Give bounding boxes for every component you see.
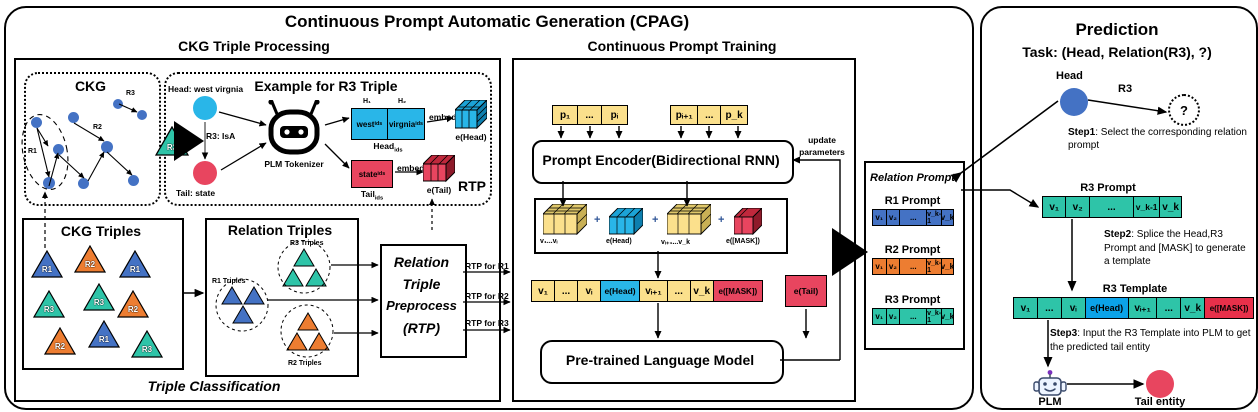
triple-triangle: R3 <box>33 290 65 318</box>
prediction-step2: Step2: Splice the Head,R3 Prompt and [MA… <box>1104 228 1254 269</box>
ckg-triples-title: CKG Triples <box>22 223 180 239</box>
cell: v₁ <box>873 309 887 324</box>
step2-bold: Step2 <box>1104 229 1131 240</box>
triangle-label: R2 <box>44 342 76 351</box>
p-token: pᵢ₊₁ <box>671 106 698 124</box>
head-ids-caption: Headids <box>351 141 425 154</box>
input-sequence-row: v₁ ... vᵢ e(Head) vᵢ₊₁ ... v_k e([MASK]) <box>531 280 763 302</box>
r3-prompt-row: v₁ v₂ ... v_k-1 v_k <box>872 308 954 325</box>
cell: vᵢ₊₁ <box>1129 298 1158 318</box>
plm-robot-label: PLM <box>1025 396 1075 408</box>
r1-group-label: R1 Triples <box>212 278 245 285</box>
cell: e([MASK]) <box>1205 298 1253 318</box>
v1-vi-slab <box>543 204 587 236</box>
rtp-line-1: Relation <box>380 254 463 270</box>
plm-tokenizer-icon <box>265 100 323 156</box>
rtp-out-r2: RTP for R2 <box>465 291 509 301</box>
cluster-triangle <box>297 312 319 331</box>
prompt-encoder-label: Prompt Encoder(Bidirectional RNN) <box>532 152 790 168</box>
rtp-label: RTP <box>458 178 486 194</box>
p-token: ... <box>698 106 721 124</box>
cell: ... <box>1157 298 1181 318</box>
e-head-slab <box>609 208 643 236</box>
head-h1-label: H₁ <box>363 98 371 105</box>
section-ckg-title: CKG Triple Processing <box>14 38 494 54</box>
r3-template-title: R3 Template <box>1020 283 1250 295</box>
p-token: ... <box>578 106 602 124</box>
cluster-triangle <box>243 286 265 305</box>
cell: ... <box>1090 197 1134 217</box>
cell: v₂ <box>887 259 901 274</box>
update-parameters-line2: parameters <box>794 147 850 157</box>
cell: v_k <box>942 309 953 324</box>
ckg-node <box>101 141 113 153</box>
step3-text: : Input the R3 Template into PLM to get … <box>1050 328 1251 353</box>
prediction-relation-label: R3 <box>1118 83 1132 95</box>
figure-root: Continuous Prompt Automatic Generation (… <box>0 0 1258 412</box>
e-head-cube <box>455 100 487 130</box>
r3-group-label: R3 Triples <box>290 240 323 247</box>
triangle-label: R1 <box>119 265 151 274</box>
prompt-tokens-group-b: pᵢ₊₁ ... p_k <box>670 105 748 125</box>
rtp-line-2: Triple <box>380 276 463 292</box>
cell: v_k-1 <box>1134 197 1160 217</box>
cell: v₂ <box>887 210 901 225</box>
e-mask-slab <box>734 208 762 236</box>
cell: v_k <box>1181 298 1205 318</box>
head-token-2: virgniaids <box>388 109 424 139</box>
ckg-node <box>31 117 42 128</box>
section-training-title: Continuous Prompt Training <box>512 38 852 54</box>
cell: vᵢ <box>1062 298 1086 318</box>
triple-triangle: R2 <box>44 327 76 355</box>
relation-triples-title: Relation Triples <box>205 222 355 238</box>
r1-prompt-row: v₁ v₂ ... v_k-1 v_k <box>872 209 954 226</box>
sum-label-emask: e([MASK]) <box>726 238 760 245</box>
p-token: p₁ <box>553 106 578 124</box>
ckg-node <box>68 112 79 123</box>
prediction-step1: Step1: Select the corresponding relation… <box>1068 126 1254 152</box>
embed-tail-label: embed <box>397 163 424 173</box>
seq-cell-vk: v_k <box>691 281 714 301</box>
tail-entity-label: Tail entity <box>1120 396 1200 408</box>
seq-cell-vi1: vᵢ₊₁ <box>640 281 668 301</box>
tail-node <box>193 161 217 185</box>
cell: v_k-1 <box>927 309 941 324</box>
ckg-edge-r2: R2 <box>93 124 102 131</box>
prediction-unknown-node: ? <box>1168 94 1200 126</box>
plus-sign: + <box>594 214 600 226</box>
cluster-triangle <box>282 268 304 287</box>
cluster-triangle <box>293 248 315 267</box>
tail-ids-caption: Tailids <box>351 189 393 202</box>
prediction-head-node <box>1060 88 1088 116</box>
prediction-head-label: Head <box>1056 70 1083 82</box>
cluster-triangle <box>286 332 308 351</box>
plus-sign: + <box>652 214 658 226</box>
seq-cell-emask: e([MASK]) <box>714 281 762 301</box>
cluster-triangle <box>232 305 254 324</box>
triple-triangle: R2 <box>74 245 106 273</box>
embed-head-label: embed <box>429 112 456 122</box>
step1-text: : Select the corresponding relation prom… <box>1068 127 1247 151</box>
tail-ids-box: stateids <box>351 160 393 188</box>
cluster-triangle <box>305 268 327 287</box>
cell: v_k <box>942 259 953 274</box>
ckg-edge-r1: R1 <box>28 148 37 155</box>
prediction-step3: Step3: Input the R3 Template into PLM to… <box>1050 327 1255 354</box>
ckg-node <box>78 178 89 189</box>
head-ids-row: westids virgniaids <box>351 108 425 140</box>
step3-bold: Step3 <box>1050 328 1077 339</box>
e-tail-box: e(Tail) <box>785 275 827 307</box>
cell: v₁ <box>873 259 887 274</box>
ckg-node <box>137 110 147 120</box>
cluster-triangle <box>221 286 243 305</box>
triple-triangle: R3 <box>131 330 163 358</box>
plm-label: Pre-trained Language Model <box>540 352 780 368</box>
triple-classification-caption: Triple Classification <box>14 378 414 394</box>
cell: v₁ <box>1014 298 1038 318</box>
triangle-label: R3 <box>33 305 65 314</box>
p-token: pᵢ <box>602 106 627 124</box>
r1-prompt-title: R1 Prompt <box>864 195 961 207</box>
r3-prompt-title: R3 Prompt <box>864 294 961 306</box>
ckg-edge-r3: R3 <box>126 90 135 97</box>
triangle-label: R3 <box>155 143 189 152</box>
cell: ... <box>900 210 927 225</box>
p-token: p_k <box>721 106 747 124</box>
sum-label-v1vi: v₁...vᵢ <box>540 238 558 245</box>
rtp-line-3: Preprocess <box>380 298 463 313</box>
seq-cell-v1: v₁ <box>532 281 555 301</box>
cell: v_k-1 <box>927 259 941 274</box>
sum-label-vi1vk: vᵢ₊₁...v_k <box>661 238 690 246</box>
prediction-task: Task: (Head, Relation(R3), ?) <box>980 44 1254 60</box>
cell: v₁ <box>1043 197 1066 217</box>
triangle-label: R3 <box>131 345 163 354</box>
r3-template-row: v₁ ... vᵢ e(Head) vᵢ₊₁ ... v_k e([MASK]) <box>1013 297 1254 319</box>
plm-tokenizer-label: PLM Tokenizer <box>255 159 333 169</box>
cell: ... <box>1038 298 1062 318</box>
example-head-label: Head: west virgnia <box>168 84 243 94</box>
seq-cell-dots: ... <box>555 281 578 301</box>
vi1-vk-slab <box>667 204 711 236</box>
e-tail-cube <box>423 155 455 183</box>
example-tail-label: Tail: state <box>176 188 215 198</box>
r3-triangle-icon: R3 <box>155 126 189 156</box>
prediction-title: Prediction <box>980 20 1254 40</box>
triangle-label: R1 <box>31 265 63 274</box>
seq-cell-vi: vᵢ <box>578 281 601 301</box>
ckg-node <box>128 175 139 186</box>
cluster-triangle <box>308 332 330 351</box>
update-parameters-line1: update <box>794 135 850 145</box>
r2-group-label: R2 Triples <box>288 360 321 367</box>
rtp-out-r3: RTP for R3 <box>465 318 509 328</box>
prompt-tokens-group-a: p₁ ... pᵢ <box>552 105 628 125</box>
step1-bold: Step1 <box>1068 127 1095 138</box>
head-node <box>193 96 217 120</box>
tail-entity-node <box>1146 370 1174 398</box>
cell: ... <box>900 259 927 274</box>
r2-prompt-row: v₁ v₂ ... v_k-1 v_k <box>872 258 954 275</box>
triple-triangle: R2 <box>117 290 149 318</box>
relation-prompt-title: Relation Prompt <box>864 172 961 184</box>
ckg-node <box>113 99 123 109</box>
rtp-line-4: (RTP) <box>380 320 463 336</box>
e-tail-label: e(Tail) <box>415 185 463 195</box>
triangle-label: R2 <box>117 305 149 314</box>
r3-prompt-row-pred: v₁ v₂ ... v_k-1 v_k <box>1042 196 1182 218</box>
cell: v₁ <box>873 210 887 225</box>
triangle-label: R2 <box>74 260 106 269</box>
head-token-1: westids <box>352 109 388 139</box>
ckg-label: CKG <box>24 78 157 94</box>
cpag-title: Continuous Prompt Automatic Generation (… <box>4 12 970 32</box>
rtp-out-r1: RTP for R1 <box>465 261 509 271</box>
cell: v_k <box>1160 197 1181 217</box>
ckg-node <box>53 144 64 155</box>
head-h2-label: H₂ <box>398 98 406 105</box>
cell: v₂ <box>1066 197 1089 217</box>
triple-triangle: R1 <box>119 250 151 278</box>
cell: e(Head) <box>1086 298 1129 318</box>
plm-robot-icon <box>1033 370 1067 398</box>
e-head-label: e(Head) <box>447 132 495 142</box>
seq-cell-ehead: e(Head) <box>601 281 640 301</box>
triangle-label: R3 <box>83 298 115 307</box>
seq-cell-dots2: ... <box>668 281 691 301</box>
r3-prompt-title-pred: R3 Prompt <box>1038 182 1178 194</box>
cell: v₂ <box>887 309 901 324</box>
cell: v_k <box>942 210 953 225</box>
example-relation-label: R3: IsA <box>206 131 235 141</box>
triangle-label: R1 <box>88 335 120 344</box>
r2-prompt-title: R2 Prompt <box>864 244 961 256</box>
sum-label-ehead: e(Head) <box>606 238 632 245</box>
triple-triangle: R1 <box>31 250 63 278</box>
triple-triangle: R1 <box>88 320 120 348</box>
cell: v_k-1 <box>927 210 941 225</box>
triple-triangle: R3 <box>83 283 115 311</box>
plus-sign: + <box>718 214 724 226</box>
cell: ... <box>900 309 927 324</box>
ckg-node <box>43 177 55 189</box>
